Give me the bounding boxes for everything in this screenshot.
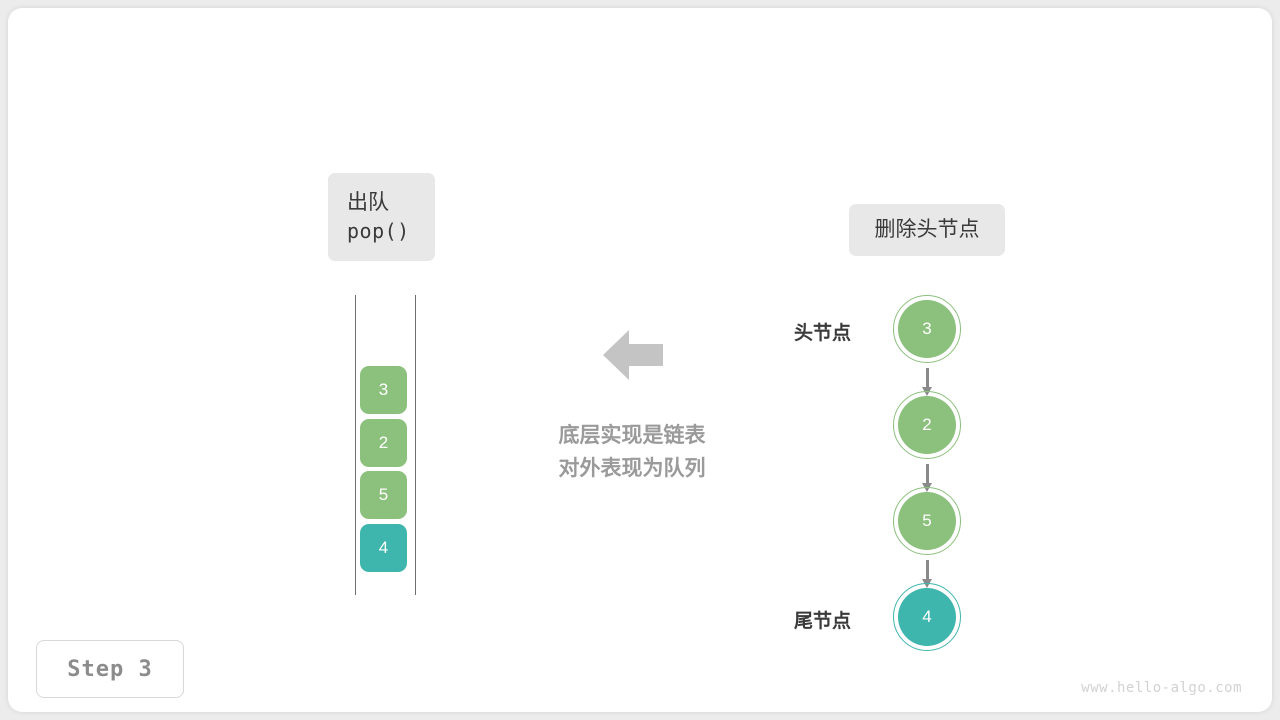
step-badge: Step 3	[36, 640, 184, 698]
node-value: 5	[922, 511, 931, 531]
queue-box: 2	[360, 419, 407, 467]
linked-list-node: 3	[898, 300, 956, 358]
operation-label-line2: pop()	[347, 218, 410, 246]
arrow-stem	[926, 464, 929, 484]
linked-list-node: 5	[898, 492, 956, 550]
linked-list-node: 2	[898, 396, 956, 454]
diagram-caption: 底层实现是链表 对外表现为队列	[512, 420, 752, 485]
action-label-chip: 删除头节点	[849, 204, 1005, 256]
watermark: www.hello-algo.com	[1081, 680, 1242, 696]
head-node-label: 头节点	[794, 318, 851, 345]
diagram-canvas: 出队 pop() 删除头节点 3254 底层实现是链表 对外表现为队列 头节点 …	[8, 8, 1272, 712]
operation-label-line1: 出队	[347, 189, 389, 218]
arrow-stem	[926, 560, 929, 580]
queue-rail-right	[415, 295, 416, 595]
queue-box: 4	[360, 524, 407, 572]
queue-rail-left	[355, 295, 356, 595]
queue-box: 3	[360, 366, 407, 414]
caption-line1: 底层实现是链表	[512, 420, 752, 453]
operation-label-chip: 出队 pop()	[328, 173, 435, 261]
action-label-text: 删除头节点	[875, 216, 980, 245]
node-value: 2	[922, 415, 931, 435]
tail-node-label: 尾节点	[794, 606, 851, 633]
flow-arrow-left-icon	[603, 328, 663, 382]
node-value: 4	[922, 607, 931, 627]
caption-line2: 对外表现为队列	[512, 453, 752, 486]
queue-box: 5	[360, 471, 407, 519]
arrow-stem	[926, 368, 929, 388]
linked-list-node: 4	[898, 588, 956, 646]
node-value: 3	[922, 319, 931, 339]
